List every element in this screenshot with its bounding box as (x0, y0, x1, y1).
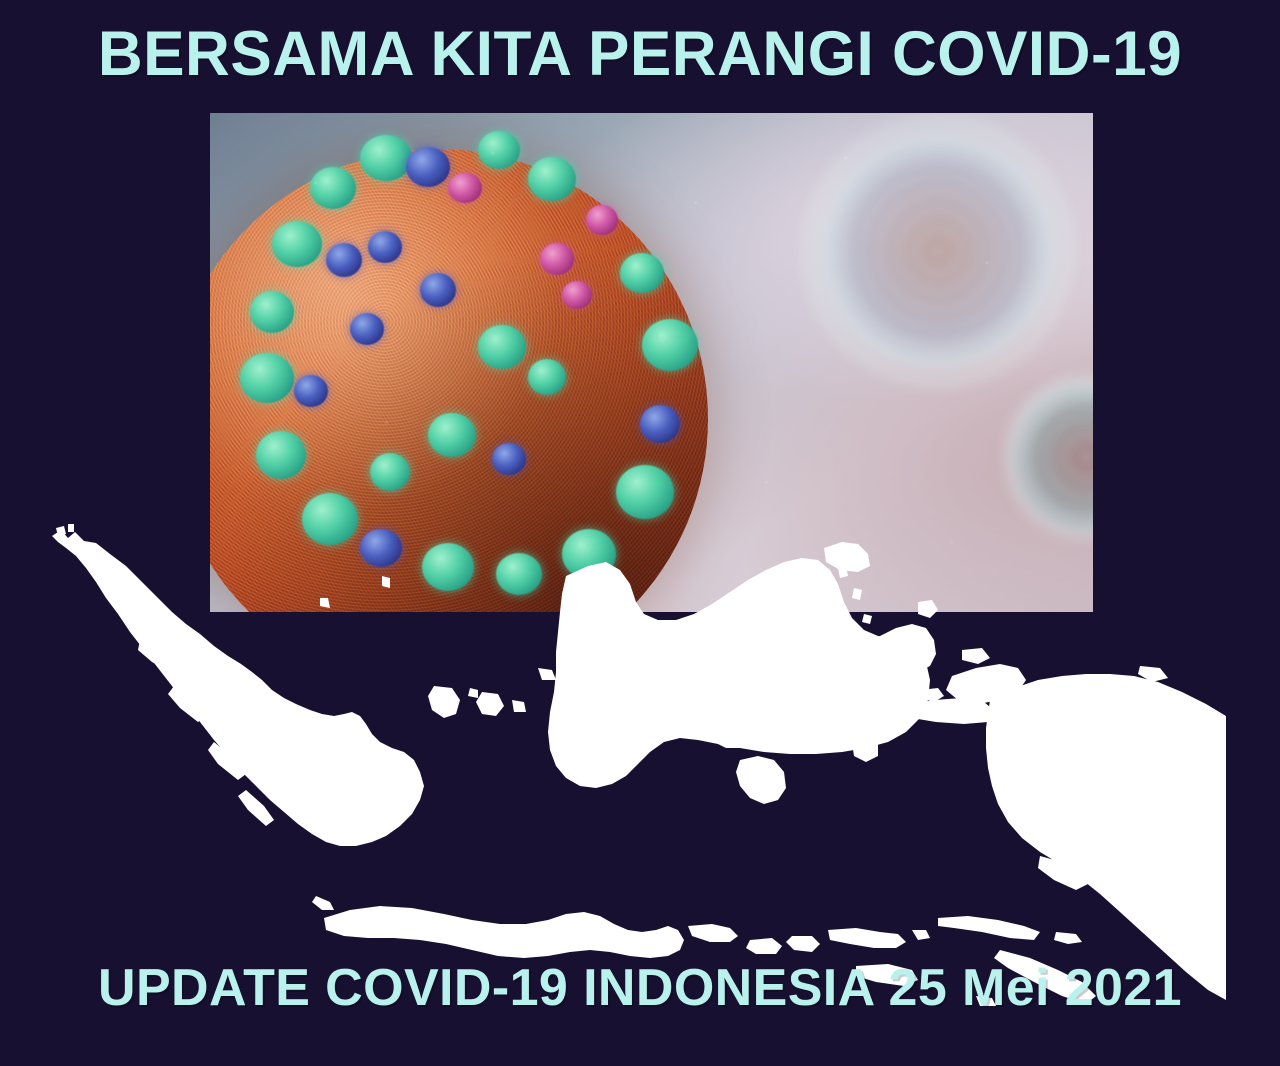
island-enggano (312, 896, 334, 910)
island-buru (854, 704, 892, 728)
island-speck-4 (862, 614, 872, 624)
island-kei (1006, 752, 1030, 768)
spike-protein (370, 453, 410, 491)
spike-protein (448, 173, 482, 203)
island-komodo (912, 930, 930, 940)
island-riau-3 (538, 668, 556, 680)
spike-protein (640, 405, 680, 443)
island-alor (1054, 932, 1082, 944)
island-bacan (898, 672, 922, 686)
spike-protein (616, 465, 674, 519)
coronavirus-image (210, 113, 1093, 612)
spike-protein (540, 243, 574, 275)
island-waigeo (962, 648, 990, 664)
island-tanimbar (1018, 800, 1048, 820)
spike-protein (528, 157, 576, 201)
spike-protein (478, 131, 520, 169)
spike-protein (478, 325, 526, 369)
spike-protein (496, 553, 542, 595)
island-seram (900, 698, 996, 724)
island-speck-6 (786, 612, 792, 620)
island-mentawai-1 (208, 742, 246, 780)
island-biak (1138, 666, 1168, 682)
island-flores (938, 916, 1040, 940)
spike-protein (586, 205, 618, 235)
spike-protein (642, 319, 698, 371)
island-papua-bay (1038, 856, 1088, 890)
spike-protein (528, 359, 566, 395)
spike-protein (294, 375, 328, 407)
spike-protein (272, 221, 322, 267)
island-java (324, 906, 684, 958)
island-riau-2 (512, 700, 526, 712)
background-virion-2 (1010, 381, 1093, 533)
spike-protein (562, 529, 616, 579)
background-virion-1 (822, 135, 1054, 367)
spike-protein (428, 413, 476, 457)
island-aru (1058, 772, 1086, 794)
spike-protein (240, 353, 294, 403)
spike-protein (302, 493, 358, 545)
spike-protein (620, 253, 664, 293)
spike-protein (420, 273, 456, 307)
poster-canvas: BERSAMA KITA PERANGI COVID-19 (0, 0, 1280, 1066)
island-belitung (476, 692, 504, 716)
spike-protein (360, 529, 402, 567)
island-halmahera (876, 624, 936, 672)
island-lombok (786, 936, 820, 952)
island-riau-1 (468, 688, 478, 698)
spike-protein (360, 135, 412, 181)
island-papua (986, 674, 1226, 1000)
island-sulawesi (676, 610, 848, 748)
island-madura (688, 924, 738, 942)
island-nias (168, 686, 206, 722)
island-weh (56, 526, 66, 536)
spike-protein (368, 231, 402, 263)
island-papua-birdshead (946, 664, 1026, 704)
island-yapen (1098, 686, 1138, 702)
island-bangka (428, 686, 460, 718)
island-buton (852, 738, 878, 762)
spike-protein (422, 543, 474, 591)
spike-protein (350, 313, 384, 345)
island-bali (746, 938, 782, 954)
spike-protein (256, 431, 306, 479)
page-title: BERSAMA KITA PERANGI COVID-19 (10, 18, 1271, 90)
spike-protein (562, 281, 592, 309)
spike-protein (310, 167, 356, 209)
island-sula (798, 682, 842, 694)
island-sulawesi-s (736, 756, 786, 804)
page-subtitle: UPDATE COVID-19 INDONESIA 25 Mei 2021 (0, 958, 1280, 1018)
spike-protein (326, 243, 362, 277)
island-sumbawa (828, 928, 906, 948)
spike-protein (250, 291, 294, 333)
spike-protein (492, 443, 526, 475)
island-weh-2 (68, 524, 74, 532)
island-simeulue (138, 640, 176, 672)
island-mentawai-2 (238, 790, 274, 826)
island-obi (920, 688, 944, 702)
island-sulawesi-se (792, 690, 868, 724)
spike-protein (406, 147, 450, 187)
